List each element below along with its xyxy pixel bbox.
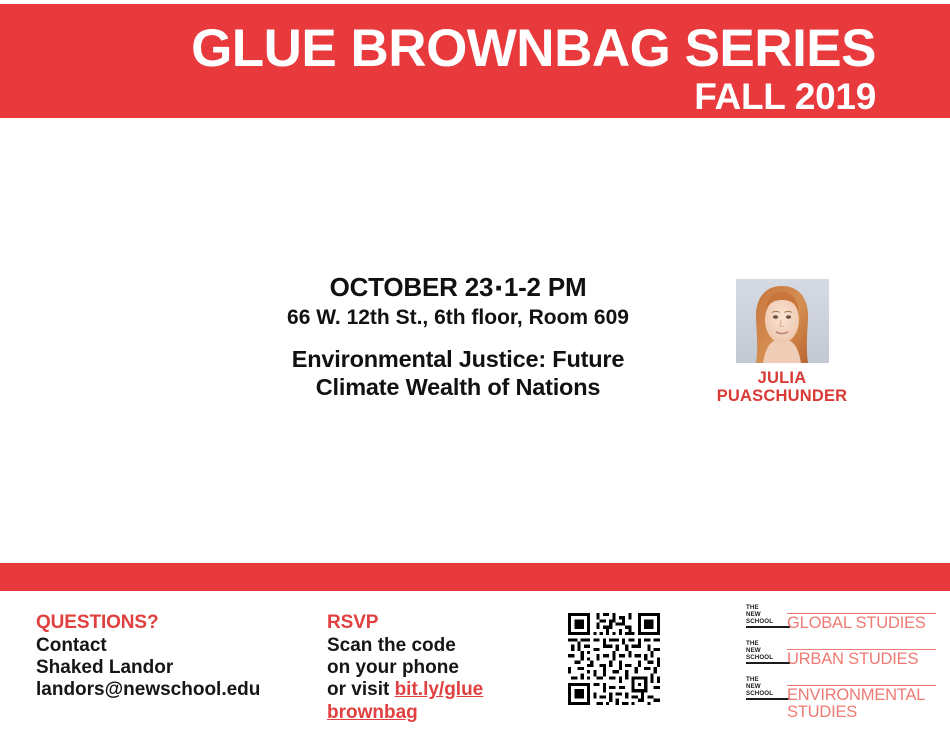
questions-line-1: Contact (36, 635, 296, 657)
event-details: OCTOBER 23▪1-2 PM 66 W. 12th St., 6th fl… (248, 273, 668, 401)
logo-urban-studies: THE NEW SCHOOL URBAN STUDIES (746, 641, 936, 674)
rsvp-line-3: or visit bit.ly/glue (327, 679, 542, 701)
rsvp-visit-prefix: or visit (327, 679, 395, 700)
logo-environmental-studies: THE NEW SCHOOL ENVIRONMENTAL STUDIES (746, 677, 936, 710)
rsvp-line-1: Scan the code (327, 635, 542, 657)
ns-rule (746, 662, 790, 664)
event-time: 1-2 PM (504, 272, 587, 302)
ns-rule (746, 698, 790, 700)
partner-logos: THE NEW SCHOOL GLOBAL STUDIES THE NEW SC… (746, 605, 936, 710)
header-season-subtitle: FALL 2019 (0, 78, 876, 115)
questions-block: QUESTIONS? Contact Shaked Landor landors… (36, 613, 296, 702)
ns-line-3: SCHOOL (746, 654, 773, 661)
new-school-wordmark-icon: THE NEW SCHOOL (746, 605, 790, 628)
qr-code-icon[interactable] (568, 613, 660, 705)
header-banner: GLUE BROWNBAG SERIES FALL 2019 (0, 4, 950, 118)
speaker: JULIA PUASCHUNDER (702, 279, 862, 406)
ns-line-2: NEW (746, 647, 761, 654)
event-date: OCTOBER 23 (330, 272, 494, 302)
logo-department-label: URBAN STUDIES (787, 649, 936, 668)
separator-bullet-icon: ▪ (493, 278, 504, 299)
event-datetime: OCTOBER 23▪1-2 PM (248, 273, 668, 302)
rsvp-heading: RSVP (327, 613, 542, 634)
questions-body: Contact Shaked Landor landors@newschool.… (36, 635, 296, 702)
main-content: OCTOBER 23▪1-2 PM 66 W. 12th St., 6th fl… (0, 118, 950, 563)
event-location: 66 W. 12th St., 6th floor, Room 609 (248, 306, 668, 330)
speaker-last-name: PUASCHUNDER (702, 387, 862, 405)
rsvp-body: Scan the code on your phone or visit bit… (327, 635, 542, 724)
event-topic-line-2: Climate Wealth of Nations (248, 373, 668, 401)
new-school-wordmark-icon: THE NEW SCHOOL (746, 677, 790, 700)
rsvp-link-part-2[interactable]: brownbag (327, 702, 418, 723)
logo-department-label: GLOBAL STUDIES (787, 613, 936, 632)
ns-line-3: SCHOOL (746, 618, 773, 625)
speaker-name: JULIA PUASCHUNDER (702, 369, 862, 406)
ns-line-1: THE (746, 676, 759, 683)
ns-line-2: NEW (746, 611, 761, 618)
footer: QUESTIONS? Contact Shaked Landor landors… (0, 591, 950, 737)
event-topic: Environmental Justice: Future Climate We… (248, 345, 668, 401)
logo-department-label: ENVIRONMENTAL STUDIES (787, 685, 936, 721)
rsvp-line-4: brownbag (327, 702, 542, 724)
ns-line-1: THE (746, 640, 759, 647)
speaker-photo (736, 279, 829, 363)
ns-line-3: SCHOOL (746, 690, 773, 697)
page-title: GLUE BROWNBAG SERIES (0, 22, 876, 75)
speaker-first-name: JULIA (702, 369, 862, 387)
section-divider (0, 563, 950, 591)
contact-email[interactable]: landors@newschool.edu (36, 679, 296, 701)
ns-line-1: THE (746, 604, 759, 611)
ns-line-2: NEW (746, 683, 761, 690)
event-topic-line-1: Environmental Justice: Future (248, 345, 668, 373)
new-school-wordmark-icon: THE NEW SCHOOL (746, 641, 790, 664)
ns-rule (746, 626, 790, 628)
qr-code-block[interactable] (568, 613, 660, 705)
questions-heading: QUESTIONS? (36, 613, 296, 634)
contact-name: Shaked Landor (36, 657, 296, 679)
logo-global-studies: THE NEW SCHOOL GLOBAL STUDIES (746, 605, 936, 638)
event-poster: { "header": { "title": "GLUE BROWNBAG SE… (0, 0, 950, 737)
rsvp-line-2: on your phone (327, 657, 542, 679)
rsvp-link-part-1[interactable]: bit.ly/glue (395, 679, 484, 700)
rsvp-block: RSVP Scan the code on your phone or visi… (327, 613, 542, 724)
